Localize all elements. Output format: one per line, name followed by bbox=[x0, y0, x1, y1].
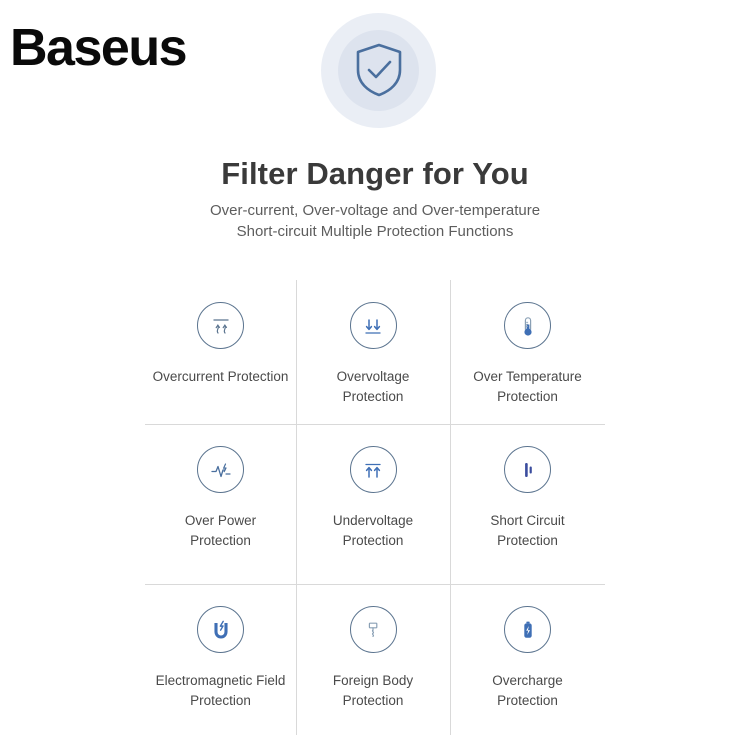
page-subtitle: Over-current, Over-voltage and Over-temp… bbox=[0, 200, 750, 243]
feature-cell-short-circuit: Short Circuit Protection bbox=[450, 424, 605, 584]
feature-label: Overcharge Protection bbox=[492, 671, 563, 710]
feature-cell-over-temperature: Over Temperature Protection bbox=[450, 280, 605, 424]
feature-label: Foreign Body Protection bbox=[333, 671, 413, 710]
magnet-icon bbox=[197, 606, 244, 653]
undervoltage-up-arrows-icon bbox=[350, 446, 397, 493]
power-pulse-icon bbox=[197, 446, 244, 493]
feature-cell-electromagnetic-field: Electromagnetic Field Protection bbox=[145, 584, 296, 735]
protection-feature-grid: Overcurrent Protection Overvoltage Prote… bbox=[145, 280, 605, 735]
thermometer-icon bbox=[504, 302, 551, 349]
feature-cell-overvoltage: Overvoltage Protection bbox=[296, 280, 450, 424]
feature-label: Overvoltage Protection bbox=[337, 367, 410, 406]
feature-label: Overcurrent Protection bbox=[153, 367, 289, 387]
feature-label: Short Circuit Protection bbox=[490, 511, 564, 550]
feature-cell-overcharge: Overcharge Protection bbox=[450, 584, 605, 735]
shield-check-icon bbox=[354, 42, 404, 98]
short-circuit-bars-icon bbox=[504, 446, 551, 493]
feature-cell-undervoltage: Undervoltage Protection bbox=[296, 424, 450, 584]
feature-label: Undervoltage Protection bbox=[333, 511, 413, 550]
feature-cell-overcurrent: Overcurrent Protection bbox=[145, 280, 296, 424]
battery-bolt-icon bbox=[504, 606, 551, 653]
hero-shield-badge bbox=[321, 13, 436, 128]
feature-label: Over Temperature Protection bbox=[473, 367, 582, 406]
brand-logo: Baseus bbox=[10, 22, 186, 74]
feature-label: Electromagnetic Field Protection bbox=[156, 671, 286, 710]
overvoltage-down-arrows-icon bbox=[350, 302, 397, 349]
overcurrent-arrows-icon bbox=[197, 302, 244, 349]
subtitle-line-2: Short-circuit Multiple Protection Functi… bbox=[0, 221, 750, 242]
foreign-body-key-icon bbox=[350, 606, 397, 653]
subtitle-line-1: Over-current, Over-voltage and Over-temp… bbox=[0, 200, 750, 221]
page-title: Filter Danger for You bbox=[0, 156, 750, 192]
feature-label: Over Power Protection bbox=[185, 511, 256, 550]
feature-cell-foreign-body: Foreign Body Protection bbox=[296, 584, 450, 735]
feature-cell-over-power: Over Power Protection bbox=[145, 424, 296, 584]
